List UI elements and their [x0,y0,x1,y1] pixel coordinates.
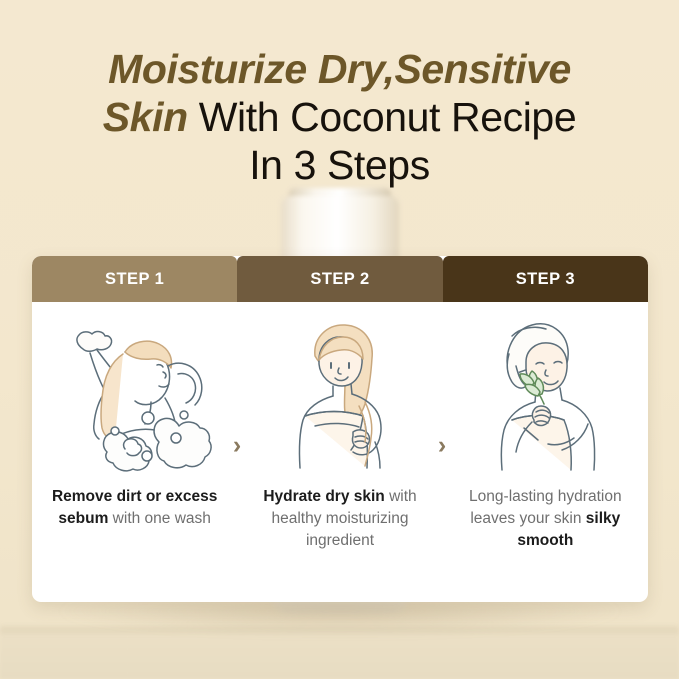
step-caption-2-bold: Hydrate dry skin [263,488,384,505]
step-column-1: Remove dirt or excess sebum with one was… [32,302,237,602]
steps-body-row: Remove dirt or excess sebum with one was… [32,302,648,602]
counter-surface [0,631,679,679]
infographic-stage: Moisturize Dry,Sensitive Skin With Cocon… [0,0,679,679]
woman-in-towel-holding-hair-icon [275,316,405,474]
step-caption-2: Hydrate dry skin with healthy moisturizi… [237,486,442,552]
title-emphasis-1: Moisturize Dry,Sensitive [108,46,571,92]
title-rest-2: With Coconut Recipe [188,94,577,140]
title-line-1: Moisturize Dry,Sensitive [0,46,679,94]
step-column-3: Long-lasting hydration leaves your skin … [443,302,648,602]
step-column-2: Hydrate dry skin with healthy moisturizi… [237,302,442,602]
step-header-2[interactable]: STEP 2 [237,256,442,302]
step-caption-1-light: with one wash [108,510,211,527]
step-separator-chevron-2: › [431,430,453,460]
steps-header-row: STEP 1 STEP 2 STEP 3 [32,256,648,302]
page-title: Moisturize Dry,Sensitive Skin With Cocon… [0,46,679,190]
steps-card: STEP 1 STEP 2 STEP 3 [32,256,648,602]
step-header-1[interactable]: STEP 1 [32,256,237,302]
step-separator-chevron-1: › [226,430,248,460]
title-line-3: In 3 Steps [0,142,679,190]
title-emphasis-2: Skin [103,94,188,140]
woman-washing-with-foam-icon [47,316,223,474]
step-header-3[interactable]: STEP 3 [443,256,648,302]
step-caption-3: Long-lasting hydration leaves your skin … [443,486,648,552]
woman-with-hair-towel-holding-leaf-icon [476,316,614,474]
step-caption-1: Remove dirt or excess sebum with one was… [32,486,237,530]
title-line-2: Skin With Coconut Recipe [0,94,679,142]
